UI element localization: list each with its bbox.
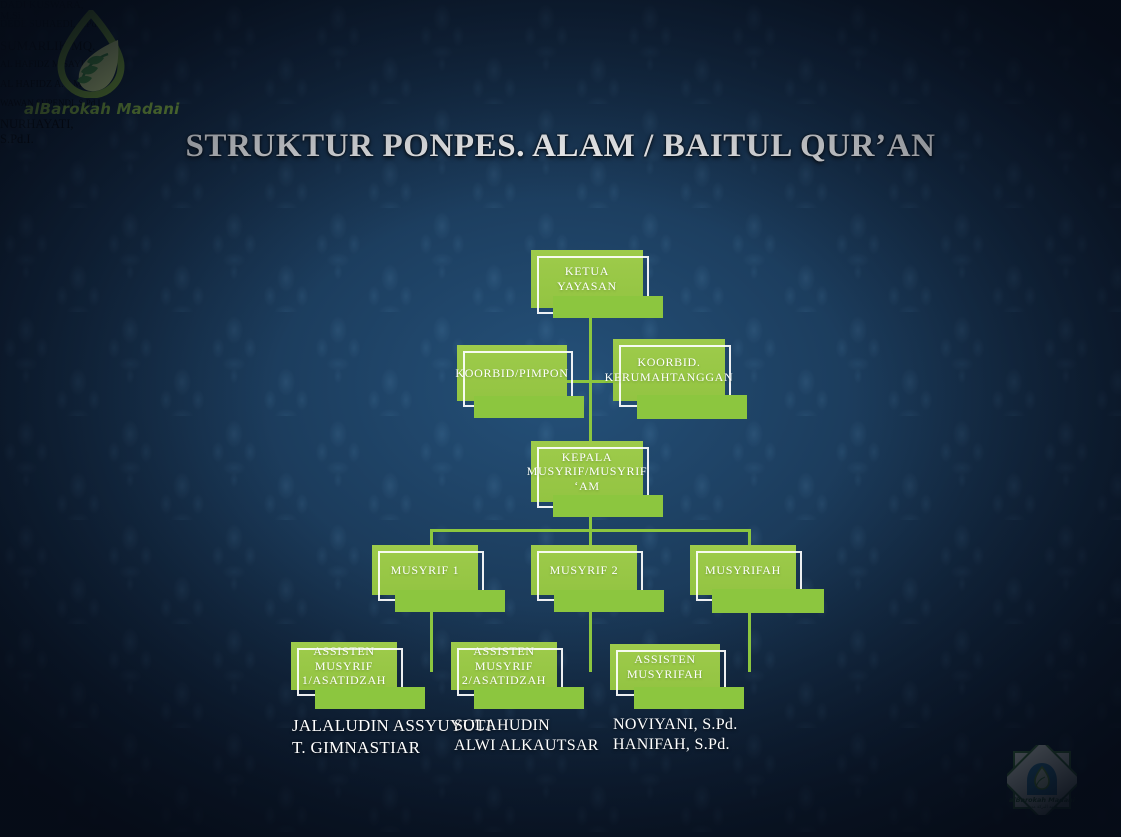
connector-musyrif1-to-asisten1 xyxy=(430,610,433,672)
name-list-asisten-musyrifah: NOVIYANI, S.Pd. HANIFAH, S.Pd. xyxy=(613,715,738,756)
plate-backing-koorbid xyxy=(474,396,584,418)
leaf-droplet-icon xyxy=(52,10,130,98)
plate-backing-ketua xyxy=(553,296,663,318)
plate-backing-asisten1 xyxy=(315,687,425,709)
name-plate-asistenfah[interactable] xyxy=(0,177,108,196)
node-title: ASSISTEN MUSYRIF 1/ASATIDZAH xyxy=(291,642,397,690)
node-title: KOORBID. KERUMAHTANGGAN xyxy=(613,339,725,401)
node-title: KEPALA MUSYRIF/MUSYRIF ‘AM xyxy=(531,441,643,502)
plate-backing-asistenfah xyxy=(634,687,744,709)
badge-wordmark: alBarokah Madani xyxy=(1009,796,1076,804)
node-title: MUSYRIF 2 xyxy=(531,545,637,595)
slide-title: STRUKTUR PONPES. ALAM / BAITUL QUR’AN xyxy=(0,128,1121,165)
damask-background-pattern xyxy=(0,0,1121,837)
plate-backing-musyrifah xyxy=(712,589,824,613)
node-title: ASSISTEN MUSYRIF 2/ASATIDZAH xyxy=(451,642,557,690)
name-list-asisten-musyrif-2: SOLAHUDIN ALWI ALKAUTSAR xyxy=(454,716,599,757)
node-title: ASSISTEN MUSYRIFAH xyxy=(610,644,720,690)
plate-backing-asisten2 xyxy=(474,687,584,709)
logo-wordmark: alBarokah Madani xyxy=(24,100,146,118)
albarokah-madani-logo: alBarokah Madani xyxy=(24,8,146,128)
badge-arabic-text: معهد البركة مدني xyxy=(1026,804,1058,810)
node-title: MUSYRIF 1 xyxy=(372,545,478,595)
connector-musyrif2-to-asisten2 xyxy=(589,610,592,672)
plate-backing-kerumah xyxy=(637,395,747,419)
connector-musyrifah-to-asistenfah xyxy=(748,610,751,672)
presentation-slide: alBarokah Madani STRUKTUR PONPES. ALAM /… xyxy=(0,0,1121,837)
plate-backing-musyrif2 xyxy=(554,590,664,612)
node-title: MUSYRIFAH xyxy=(690,545,796,595)
albarokah-madani-seal: alBarokah Madani معهد البركة مدني xyxy=(1007,745,1077,815)
edge-vignette xyxy=(0,0,1121,837)
node-title: KOORBID/PIMPON xyxy=(457,345,567,401)
plate-backing-musyrif1 xyxy=(395,590,505,612)
plate-backing-kepala xyxy=(553,495,663,517)
